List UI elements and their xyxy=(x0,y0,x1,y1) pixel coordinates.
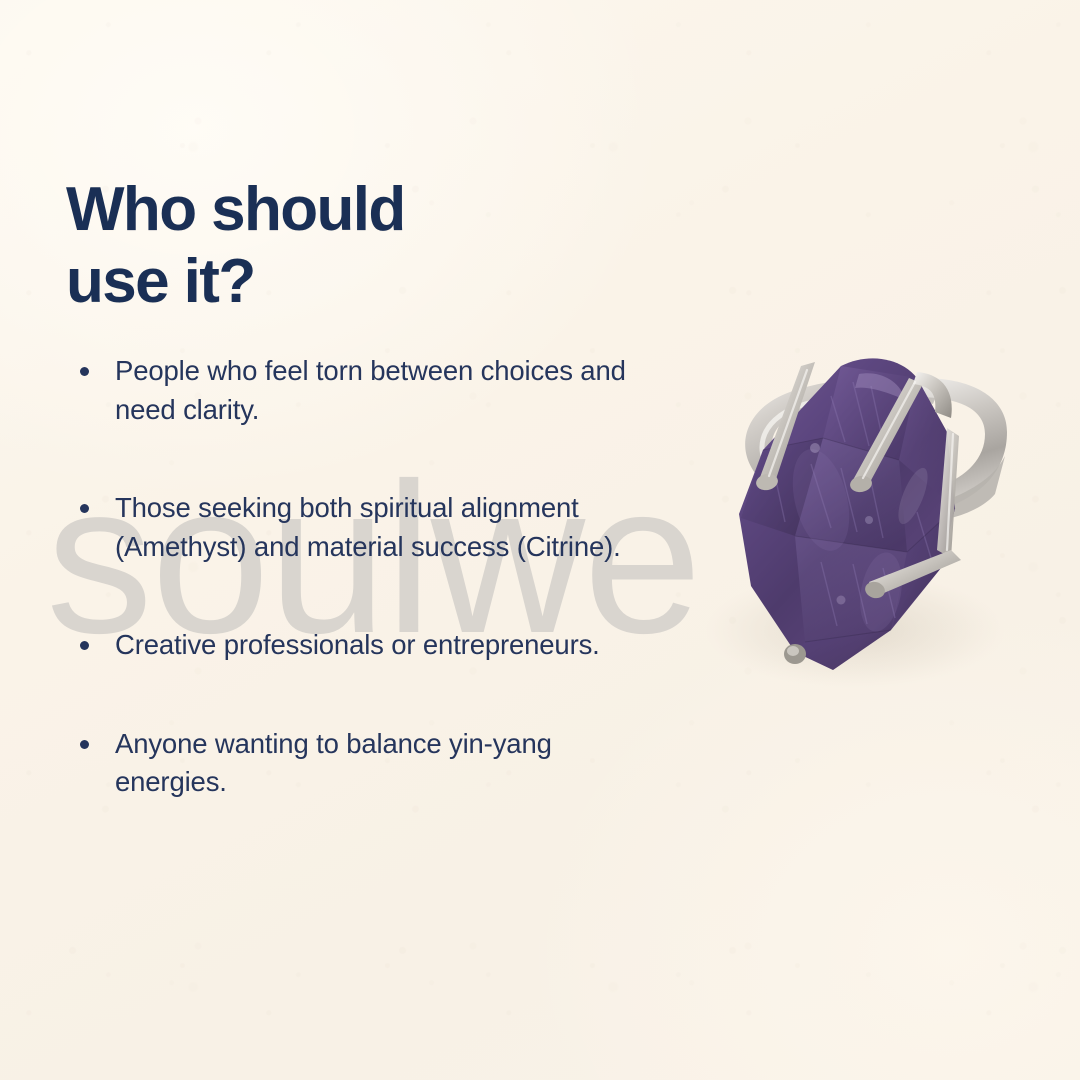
list-item-text: Anyone wanting to balance yin-yang energ… xyxy=(115,728,552,798)
bullet-dot-icon xyxy=(80,740,89,749)
list-item-text: Those seeking both spiritual alignment (… xyxy=(115,492,621,562)
list-item: Creative professionals or entrepreneurs. xyxy=(74,626,649,665)
audience-bullet-list: People who feel torn between choices and… xyxy=(74,352,649,802)
amethyst-ring-image xyxy=(655,300,1060,700)
list-item-text: People who feel torn between choices and… xyxy=(115,355,626,425)
list-item: Those seeking both spiritual alignment (… xyxy=(74,489,649,566)
list-item: Anyone wanting to balance yin-yang energ… xyxy=(74,725,649,802)
bullet-dot-icon xyxy=(80,504,89,513)
bullet-dot-icon xyxy=(80,367,89,376)
bullet-dot-icon xyxy=(80,641,89,650)
page-title: Who should use it? xyxy=(66,174,405,319)
poster-canvas: soulwe xyxy=(0,0,1080,1080)
list-item: People who feel torn between choices and… xyxy=(74,352,649,429)
list-item-text: Creative professionals or entrepreneurs. xyxy=(115,629,600,660)
